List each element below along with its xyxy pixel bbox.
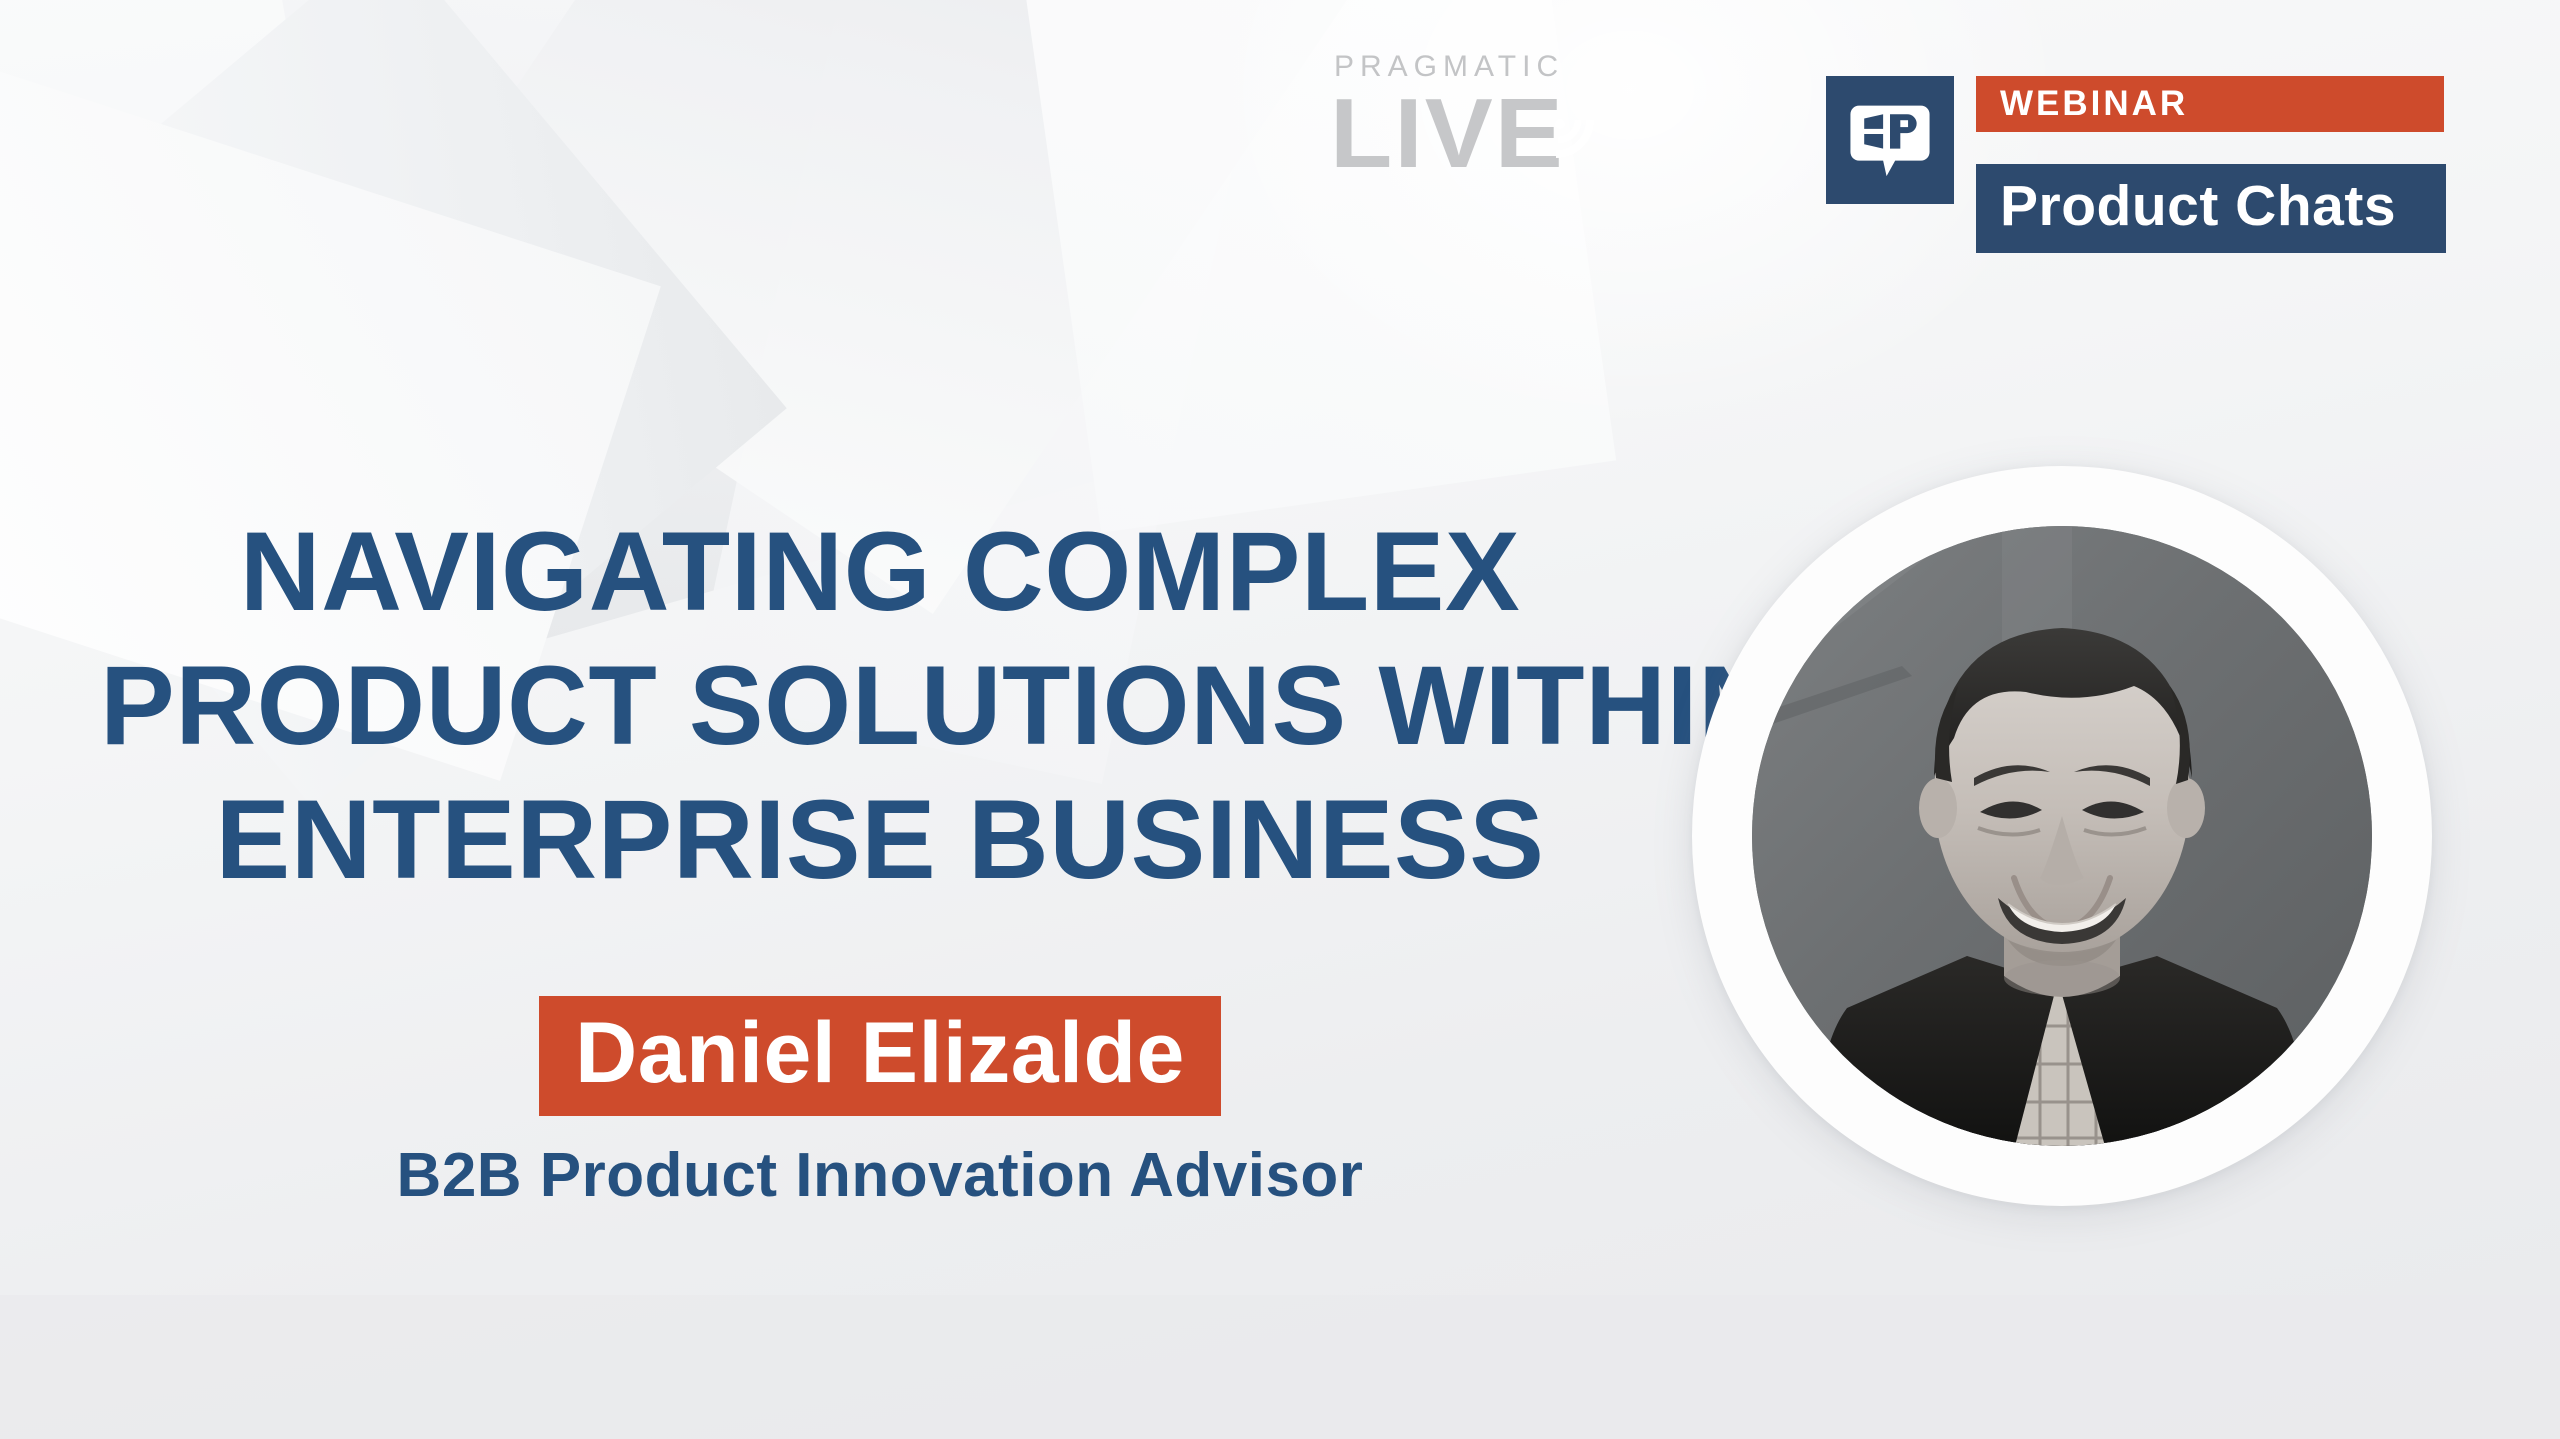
avatar (1692, 466, 2432, 1206)
title-line-1: NAVIGATING COMPLEX (100, 516, 1660, 628)
webinar-badge: WEBINAR (1976, 76, 2444, 132)
ep-speech-bubble-icon (1847, 97, 1933, 183)
speaker-name-container: Daniel Elizalde (100, 996, 1660, 1116)
live-wordmark: LIVE (1330, 88, 1704, 178)
pragmatic-live-logo: PRAGMATIC LIVE (1330, 52, 1690, 180)
live-wordmark-group: LIVE (1330, 88, 1690, 180)
speaker-headshot (1752, 526, 2372, 1146)
bg-lower-band (0, 1295, 2560, 1439)
speaker-role-label: B2B Product Innovation Advisor (397, 1141, 1364, 1210)
title-line-2: PRODUCT SOLUTIONS WITHIN (100, 650, 1660, 762)
headshot-illustration (1752, 526, 2372, 1146)
ep-logo-tile (1826, 76, 1954, 204)
title-line-3: ENTERPRISE BUSINESS (100, 784, 1660, 896)
webinar-title-slide: PRAGMATIC LIVE WEBINAR Product Chats (0, 0, 2560, 1439)
speaker-name-banner: Daniel Elizalde (539, 996, 1221, 1116)
speaker-role-container: B2B Product Innovation Advisor (100, 1145, 1660, 1207)
badge-stack: WEBINAR Product Chats (1976, 76, 2446, 253)
product-chats-badge: Product Chats (1976, 164, 2446, 253)
page-title: NAVIGATING COMPLEX PRODUCT SOLUTIONS WIT… (100, 516, 1660, 896)
product-chats-lockup: WEBINAR Product Chats (1826, 76, 2446, 253)
